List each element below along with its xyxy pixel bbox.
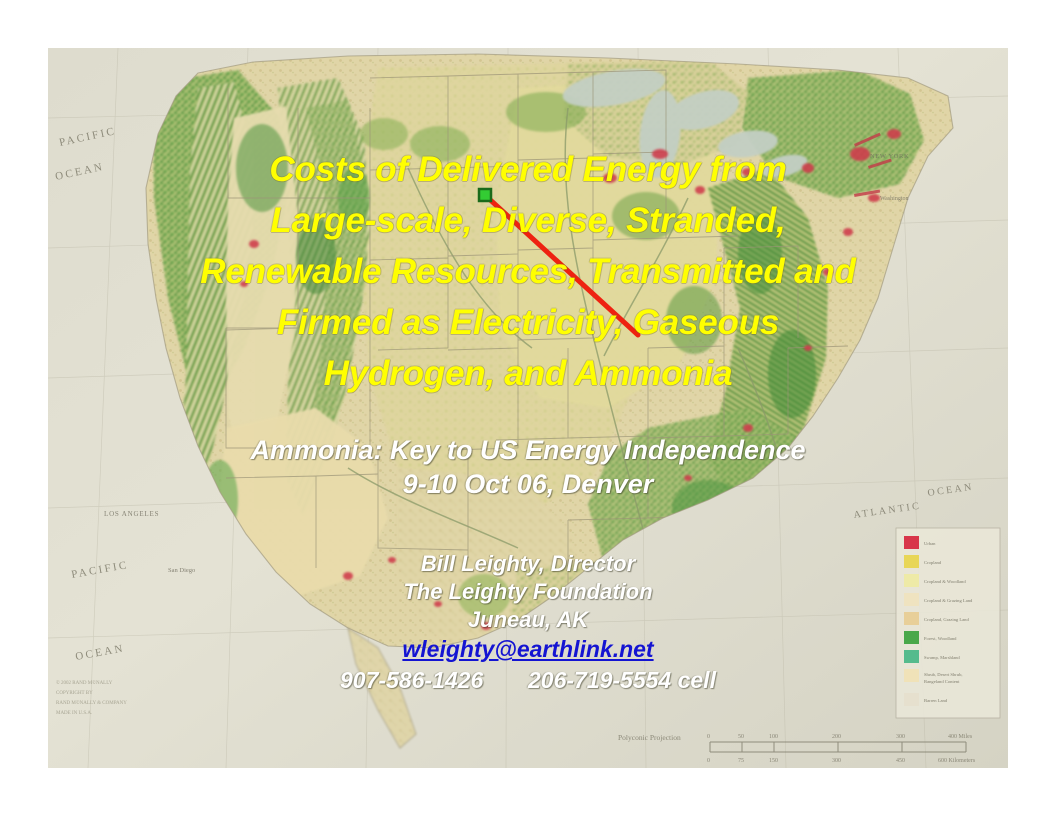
slide-title: Costs of Delivered Energy from Large-sca… <box>48 144 1008 399</box>
presenter-name: Bill Leighty, Director <box>48 550 1008 578</box>
title-line-5: Hydrogen, and Ammonia <box>48 348 1008 399</box>
title-line-4: Firmed as Electricity, Gaseous <box>48 297 1008 348</box>
slide-subtitle: Ammonia: Key to US Energy Independence 9… <box>48 433 1008 501</box>
presenter-contact-block: Bill Leighty, Director The Leighty Found… <box>48 550 1008 696</box>
subtitle-event-date: 9-10 Oct 06, Denver <box>48 467 1008 501</box>
presenter-location: Juneau, AK <box>48 606 1008 634</box>
title-line-1: Costs of Delivered Energy from <box>48 144 1008 195</box>
presenter-phone-numbers: 907-586-1426 206-719-5554 cell <box>48 664 1008 696</box>
presenter-email-row: wleighty@earthlink.net <box>48 634 1008 664</box>
subtitle-event-name: Ammonia: Key to US Energy Independence <box>48 433 1008 467</box>
presentation-slide: PACIFIC OCEAN PACIFIC OCEAN ATLANTIC OCE… <box>0 0 1056 816</box>
title-line-2: Large-scale, Diverse, Stranded, <box>48 195 1008 246</box>
presenter-organization: The Leighty Foundation <box>48 578 1008 606</box>
slide-text-layer: Costs of Delivered Energy from Large-sca… <box>48 48 1008 768</box>
presenter-email-link[interactable]: wleighty@earthlink.net <box>402 634 653 664</box>
title-line-3: Renewable Resources, Transmitted and <box>48 246 1008 297</box>
